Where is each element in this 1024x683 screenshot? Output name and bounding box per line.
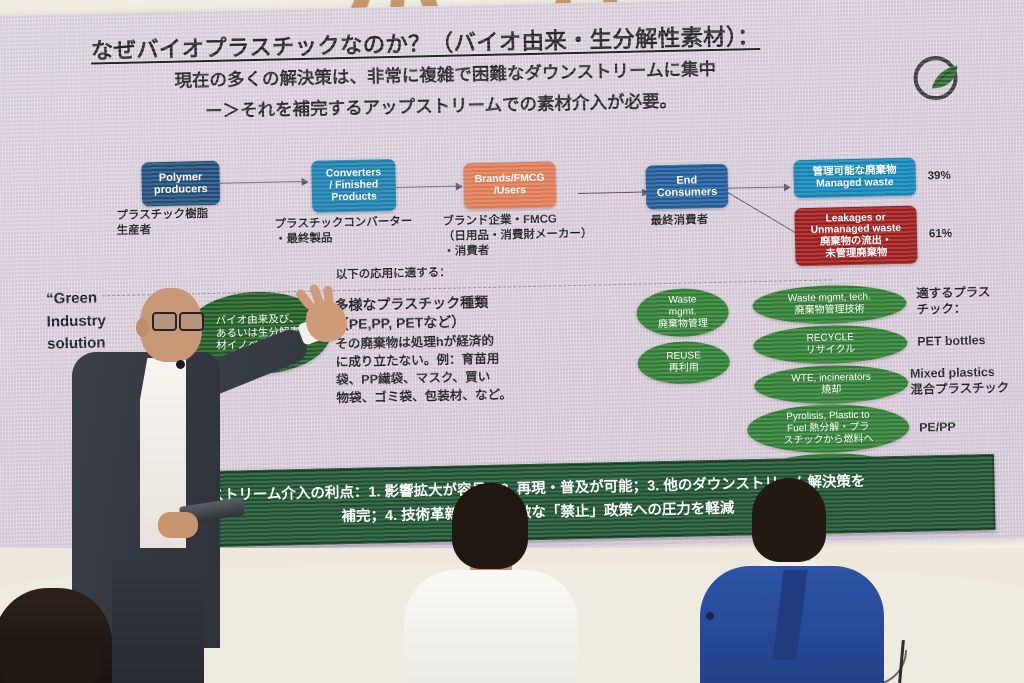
audience-right-head [752,478,826,562]
ellipse-line1: REUSE [666,350,701,363]
outcome-box-managed-waste: 管理可能な廃棄物 Managed waste [793,158,916,199]
leaf-icon [929,64,960,93]
flow-caption-converters: プラスチックコンバーター ・最終製品 [274,215,412,248]
outcome-label-line2: Managed waste [813,177,897,191]
plastic-type-pepp: PE/PP [919,419,956,436]
ellipse-waste-mgmt-tech: Waste mgmt, tech. 廃棄物管理技術 [752,284,907,325]
flow-caption-end-consumers: 最終消費者 [650,213,708,229]
flow-box-label-line1: Polymer [154,171,208,184]
flow-box-converters: Converters / Finished Products [311,159,396,213]
leaf-circle-logo [909,52,962,105]
caption-line1: プラスチック樹脂 [116,207,208,224]
ellipse-recycle: RECYCLE リサイクル [753,324,908,365]
ellipse-waste-mgmt: Waste mgmt. 廃棄物管理 [636,288,729,338]
ellipse-line2: 焼却 [792,384,872,398]
green-quote-line2: Industry [46,310,106,334]
plastics-body: その廃棄物は処理hが経済的 に成り立たない。例：育苗用 袋、PP繊袋、マスク、買… [335,332,512,407]
audience-center-white-shirt [404,570,578,683]
plastics-heading: 多様なプラスチック種類 （PE,PP, PETなど） [334,293,489,334]
ellipse-reuse: REUSE 再利用 [637,341,730,385]
ellipse-line1: RECYCLE [805,332,855,345]
flow-arrow-2 [394,185,462,188]
unmanaged-waste-percent: 61% [929,228,952,240]
right-label-line2: 混合プラスチック [910,380,1009,398]
flow-box-polymer-producers: Polymer producers [141,161,220,207]
ellipse-line2: リサイクル [806,344,856,357]
flow-arrow-3 [578,191,648,194]
flow-box-label-line2: /Users [475,185,545,198]
managed-waste-percent: 39% [928,170,951,182]
ellipse-line1: バイオ由来及び、 [216,313,300,328]
flow-box-label-line3: Products [326,191,382,204]
speaker-ear [136,318,149,337]
plastics-body-line4: 物袋、ゴミ袋、包装材、など。 [336,386,512,408]
plastics-heading-line1: 多様なプラスチック種類 [334,293,488,315]
flow-box-label-line2: Consumers [657,186,718,200]
audience-center-head [452,483,528,569]
caption-line1: プラスチックコンバーター [274,215,412,233]
flow-arrow-1 [218,181,308,184]
outcome-label-line3: 廃棄物の流出・ [811,235,902,249]
right-label-line1: PE/PP [919,419,956,436]
ellipse-pyrolysis: Pyrolisis, Plastic to Fuel 熱分解・プラ スチックから… [747,403,910,455]
plastics-heading-line2: （PE,PP, PETなど） [335,312,489,334]
ellipse-line1: Waste [657,294,707,307]
glasses-icon [152,312,204,327]
right-label-line1: PET bottles [917,332,985,350]
ellipse-line2: 再利用 [667,362,702,375]
ellipse-line1: WTE, incinerators [791,371,871,385]
lapel-microphone [176,360,185,369]
ellipse-line2: 廃棄物管理技術 [788,304,871,318]
green-quote-line1: “Green [46,287,106,311]
outcome-box-unmanaged-waste: Leakages or Unmanaged waste 廃棄物の流出・ 未管理廃… [794,206,917,267]
speaker-holding-hand [158,512,198,538]
caption-line1: 最終消費者 [650,213,708,229]
flow-box-brands-fmcg: Brands/FMCG /Users [463,161,556,209]
audience-left-hair [0,588,112,683]
ellipse-line3: 廃棄物管理 [658,318,708,331]
plastic-type-pet: PET bottles [917,332,985,350]
green-industry-quote: “Green Industry solution [46,287,107,356]
flow-caption-polymer: プラスチック樹脂 生産者 [116,207,208,239]
right-label-line2: チック： [916,300,990,318]
right-label-line1: 適するプラス [916,284,990,302]
flow-box-end-consumers: End Consumers [645,164,728,210]
flow-box-label-line2: producers [154,183,208,196]
audience-right-button [706,612,714,620]
plastic-type-mixed: Mixed plastics 混合プラスチック [910,364,1010,398]
ellipse-wte-incinerators: WTE, incinerators 焼却 [754,364,909,405]
caption-line2: ・最終製品 [275,230,413,248]
outcome-label-line4: 未管理廃棄物 [811,246,902,260]
caption-line3: ・消費者 [443,242,593,260]
flow-caption-brands: ブランド企業・FMCG （日用品・消費財メーカー） ・消費者 [442,212,592,261]
flow-arrow-4 [724,186,790,189]
slide-subtitle-line2: ー＞それを補完するアップストリームでの素材介入が必要。 [205,88,677,123]
caption-line2: 生産者 [117,222,209,239]
presentation-photo: なぜバイオプラスチックなのか？（バイオ由来・生分解性素材）： 現在の多くの解決策… [0,0,1024,683]
ellipse-line3: スチックから燃料へ [783,434,873,448]
speaker-trousers [112,560,204,683]
suitable-plastics-header: 適するプラス チック： [916,284,991,318]
applies-to-label: 以下の応用に適する： [336,264,451,283]
